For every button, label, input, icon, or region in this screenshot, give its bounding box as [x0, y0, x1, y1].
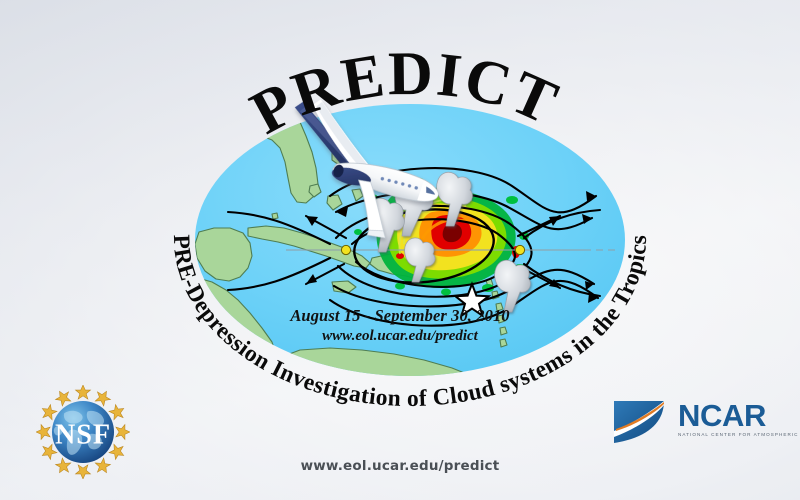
ncar-wordmark: NCAR: [678, 398, 766, 434]
ncar-mark: [612, 397, 672, 447]
ncar-logo[interactable]: NCAR NATIONAL CENTER FOR ATMOSPHERIC RES…: [612, 396, 784, 452]
poster-canvas: PREDICT PRE-Depression Investigation of …: [0, 0, 800, 500]
campaign-url-inner: www.eol.ucar.edu/predict: [0, 328, 800, 345]
critical-point-east: [515, 245, 524, 254]
footer-url[interactable]: www.eol.ucar.edu/predict: [0, 458, 800, 474]
land-cay-2: [272, 213, 278, 219]
nsf-wordmark: NSF: [55, 419, 111, 450]
critical-point-west: [341, 245, 350, 254]
campaign-dates: August 15 - September 30, 2010: [0, 306, 800, 326]
ncar-tagline: NATIONAL CENTER FOR ATMOSPHERIC RESEARCH: [678, 432, 800, 437]
